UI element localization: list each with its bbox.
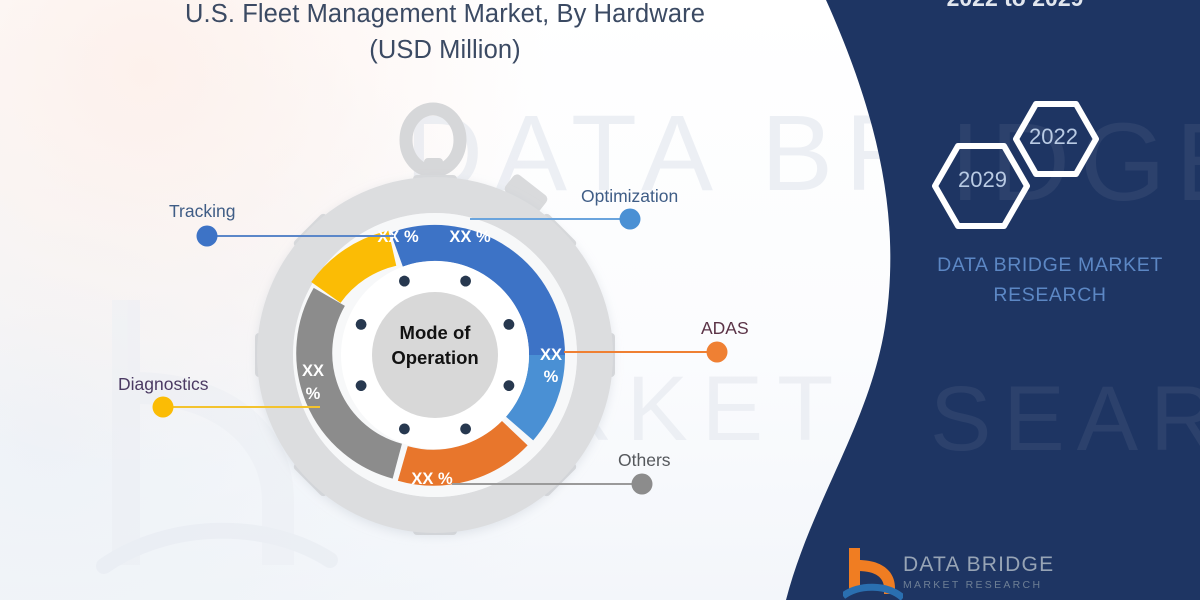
bridge-mark-icon: [843, 546, 903, 600]
dbmr-logo[interactable]: DATA BRIDGE MARKET RESEARCH: [843, 546, 1163, 600]
hexagon-2022-label: 2022: [1029, 124, 1078, 150]
logo-name: DATA BRIDGE: [903, 553, 1054, 577]
logo-subtitle: MARKET RESEARCH: [903, 579, 1054, 591]
panel-heading: 2022 to 2029: [900, 0, 1130, 14]
panel-brand-line2: RESEARCH: [900, 280, 1200, 310]
svg-text:IDGE: IDGE: [950, 101, 1200, 224]
infographic-canvas: DATA BRIDGE MARKET RESEARCH U.S. Fleet M…: [0, 0, 1200, 600]
panel-heading-period: 2022 to 2029: [900, 0, 1130, 14]
panel-brand-line1: DATA BRIDGE MARKET: [900, 250, 1200, 280]
logo-text-block: DATA BRIDGE MARKET RESEARCH: [903, 553, 1054, 591]
panel-brand: DATA BRIDGE MARKET RESEARCH: [900, 250, 1200, 310]
svg-text:SEARCH: SEARCH: [930, 368, 1200, 470]
hexagon-2029-label: 2029: [958, 167, 1007, 193]
